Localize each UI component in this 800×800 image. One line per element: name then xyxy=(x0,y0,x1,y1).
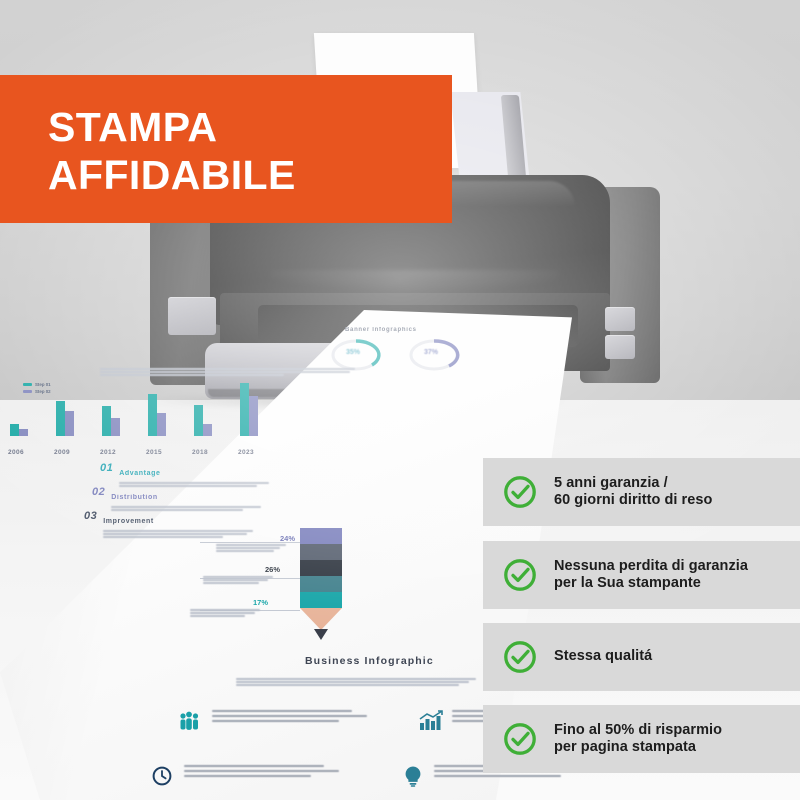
feature-badge-1[interactable]: 5 anni garanzia / 60 giorni diritto di r… xyxy=(483,458,800,526)
feature-badge-3[interactable]: Stessa qualitá xyxy=(483,623,800,691)
feature-badge-1-text: 5 anni garanzia / 60 giorni diritto di r… xyxy=(554,475,712,510)
check-circle-icon xyxy=(503,475,537,509)
page-title: STAMPA AFFIDABILE xyxy=(48,103,296,199)
feature-badge-4-text: Fino al 50% di risparmio per pagina stam… xyxy=(554,722,722,757)
check-circle-icon xyxy=(503,640,537,674)
promo-banner: Banner Infographics 35% 37% Step 01 xyxy=(0,0,800,800)
feature-badge-4[interactable]: Fino al 50% di risparmio per pagina stam… xyxy=(483,705,800,773)
feature-badge-2[interactable]: Nessuna perdita di garanzia per la Sua s… xyxy=(483,541,800,609)
check-circle-icon xyxy=(503,558,537,592)
check-circle-icon xyxy=(503,722,537,756)
feature-badge-2-text: Nessuna perdita di garanzia per la Sua s… xyxy=(554,558,748,593)
feature-badge-3-text: Stessa qualitá xyxy=(554,648,652,666)
headline-banner: STAMPA AFFIDABILE xyxy=(0,75,452,223)
